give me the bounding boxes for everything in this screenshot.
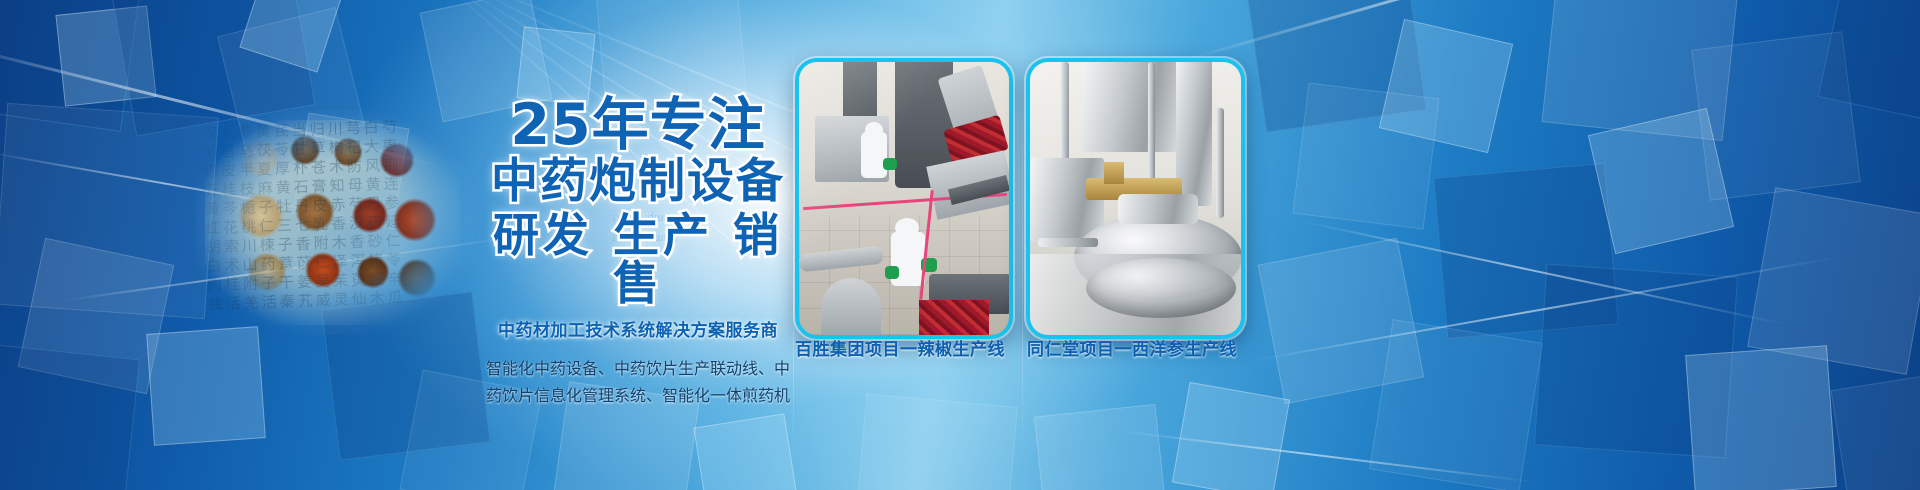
vertical-divider-left	[793, 28, 794, 458]
ancient-text-overlay: 汉人参黄芪当归川芎白芍 何首乌茯苓甘草枸杞大枣 陈皮半夏厚朴苍术防风荆 芥桂枝麻…	[202, 116, 464, 330]
photo-card-chili[interactable]	[795, 58, 1013, 339]
description-line-2: 药饮片信息化管理系统、智能化一体煎药机	[478, 382, 798, 409]
photo-caption-chili: 百胜集团项目一辣椒生产线	[780, 335, 1020, 360]
chili-production-line-photo	[799, 62, 1009, 335]
promo-banner: 汉人参黄芪当归川芎白芍 何首乌茯苓甘草枸杞大枣 陈皮半夏厚朴苍术防风荆 芥桂枝麻…	[0, 0, 1920, 490]
photo-card-ginseng[interactable]	[1026, 58, 1245, 339]
headline-line-3: 研发 生产 销售	[478, 212, 798, 308]
headline-line-1: 25年专注	[478, 96, 798, 155]
vertical-divider-right	[1022, 28, 1023, 458]
photo-caption-ginseng: 同仁堂项目一西洋参生产线	[1012, 335, 1252, 360]
description-line-1: 智能化中药设备、中药饮片生产联动线、中	[478, 355, 798, 382]
headline-block: 25年专注 中药炮制设备 研发 生产 销售 中药材加工技术系统解决方案服务商 智…	[478, 96, 798, 409]
headline-line-2: 中药炮制设备	[478, 158, 798, 207]
tagline: 中药材加工技术系统解决方案服务商	[478, 316, 798, 341]
description-block: 智能化中药设备、中药饮片生产联动线、中 药饮片信息化管理系统、智能化一体煎药机	[478, 355, 798, 409]
ginseng-production-line-photo	[1030, 62, 1241, 335]
